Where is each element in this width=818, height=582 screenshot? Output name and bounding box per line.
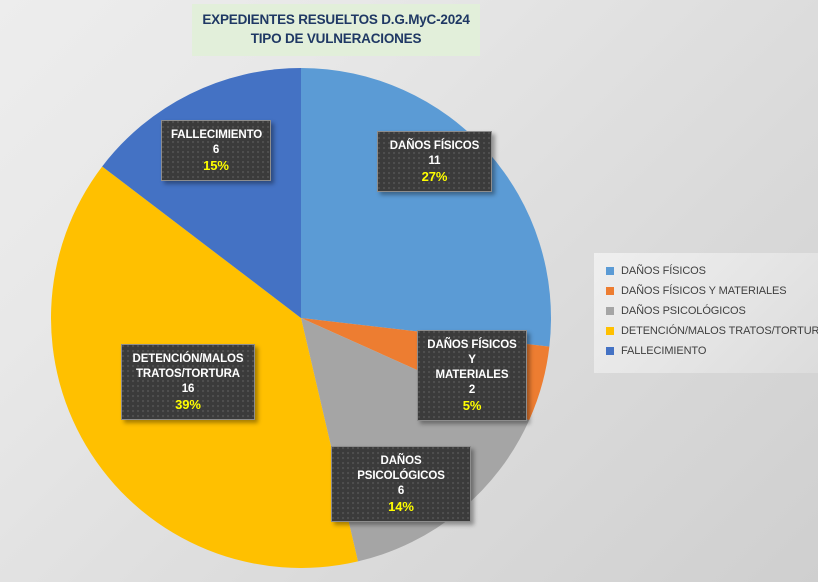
legend-swatch-icon	[606, 327, 614, 335]
data-label-percent: 15%	[171, 158, 261, 173]
chart-title[interactable]: EXPEDIENTES RESUELTOS D.G.MyC-2024 TIPO …	[192, 4, 480, 56]
data-label-percent: 5%	[427, 398, 517, 413]
data-label-value: 6	[341, 484, 461, 499]
chart-title-line-2: TIPO DE VULNERACIONES	[200, 29, 472, 48]
data-label-category: DAÑOS FÍSICOS	[387, 139, 482, 154]
legend-item-label: DAÑOS PSICOLÓGICOS	[621, 305, 746, 317]
data-label-danos-fisicos-y-materiales[interactable]: DAÑOS FÍSICOS Y MATERIALES 2 5%	[417, 330, 527, 421]
data-label-category: FALLECIMIENTO	[171, 128, 261, 143]
data-label-value: 11	[387, 154, 482, 169]
legend-item-3[interactable]: DETENCIÓN/MALOS TRATOS/TORTURA	[606, 321, 818, 341]
data-label-percent: 14%	[341, 499, 461, 514]
legend-item-4[interactable]: FALLECIMIENTO	[606, 341, 818, 361]
legend-item-label: DAÑOS FÍSICOS	[621, 265, 706, 277]
data-label-percent: 39%	[131, 397, 245, 412]
legend-swatch-icon	[606, 287, 614, 295]
data-label-fallecimiento[interactable]: FALLECIMIENTO 6 15%	[161, 120, 271, 181]
data-label-category: DETENCIÓN/MALOS TRATOS/TORTURA	[131, 352, 245, 382]
data-label-value: 2	[427, 383, 517, 398]
legend-item-label: DAÑOS FÍSICOS Y MATERIALES	[621, 285, 787, 297]
chart-area[interactable]: EXPEDIENTES RESUELTOS D.G.MyC-2024 TIPO …	[0, 0, 818, 582]
data-label-category: DAÑOS PSICOLÓGICOS	[341, 454, 461, 484]
data-label-danos-fisicos[interactable]: DAÑOS FÍSICOS 11 27%	[377, 131, 492, 192]
chart-title-line-1: EXPEDIENTES RESUELTOS D.G.MyC-2024	[200, 10, 472, 29]
chart-legend[interactable]: DAÑOS FÍSICOSDAÑOS FÍSICOS Y MATERIALESD…	[594, 253, 818, 373]
data-label-value: 16	[131, 382, 245, 397]
legend-item-label: FALLECIMIENTO	[621, 345, 706, 357]
data-label-value: 6	[171, 143, 261, 158]
legend-swatch-icon	[606, 347, 614, 355]
data-label-category: DAÑOS FÍSICOS Y MATERIALES	[427, 338, 517, 383]
legend-item-label: DETENCIÓN/MALOS TRATOS/TORTURA	[621, 325, 818, 337]
data-label-percent: 27%	[387, 169, 482, 184]
data-label-detencion-malos-tratos-tortura[interactable]: DETENCIÓN/MALOS TRATOS/TORTURA 16 39%	[121, 344, 255, 420]
data-label-danos-psicologicos[interactable]: DAÑOS PSICOLÓGICOS 6 14%	[331, 446, 471, 522]
legend-item-1[interactable]: DAÑOS FÍSICOS Y MATERIALES	[606, 281, 818, 301]
pie-slice-0[interactable]	[301, 68, 551, 347]
legend-item-2[interactable]: DAÑOS PSICOLÓGICOS	[606, 301, 818, 321]
legend-item-0[interactable]: DAÑOS FÍSICOS	[606, 261, 818, 281]
legend-swatch-icon	[606, 307, 614, 315]
legend-swatch-icon	[606, 267, 614, 275]
